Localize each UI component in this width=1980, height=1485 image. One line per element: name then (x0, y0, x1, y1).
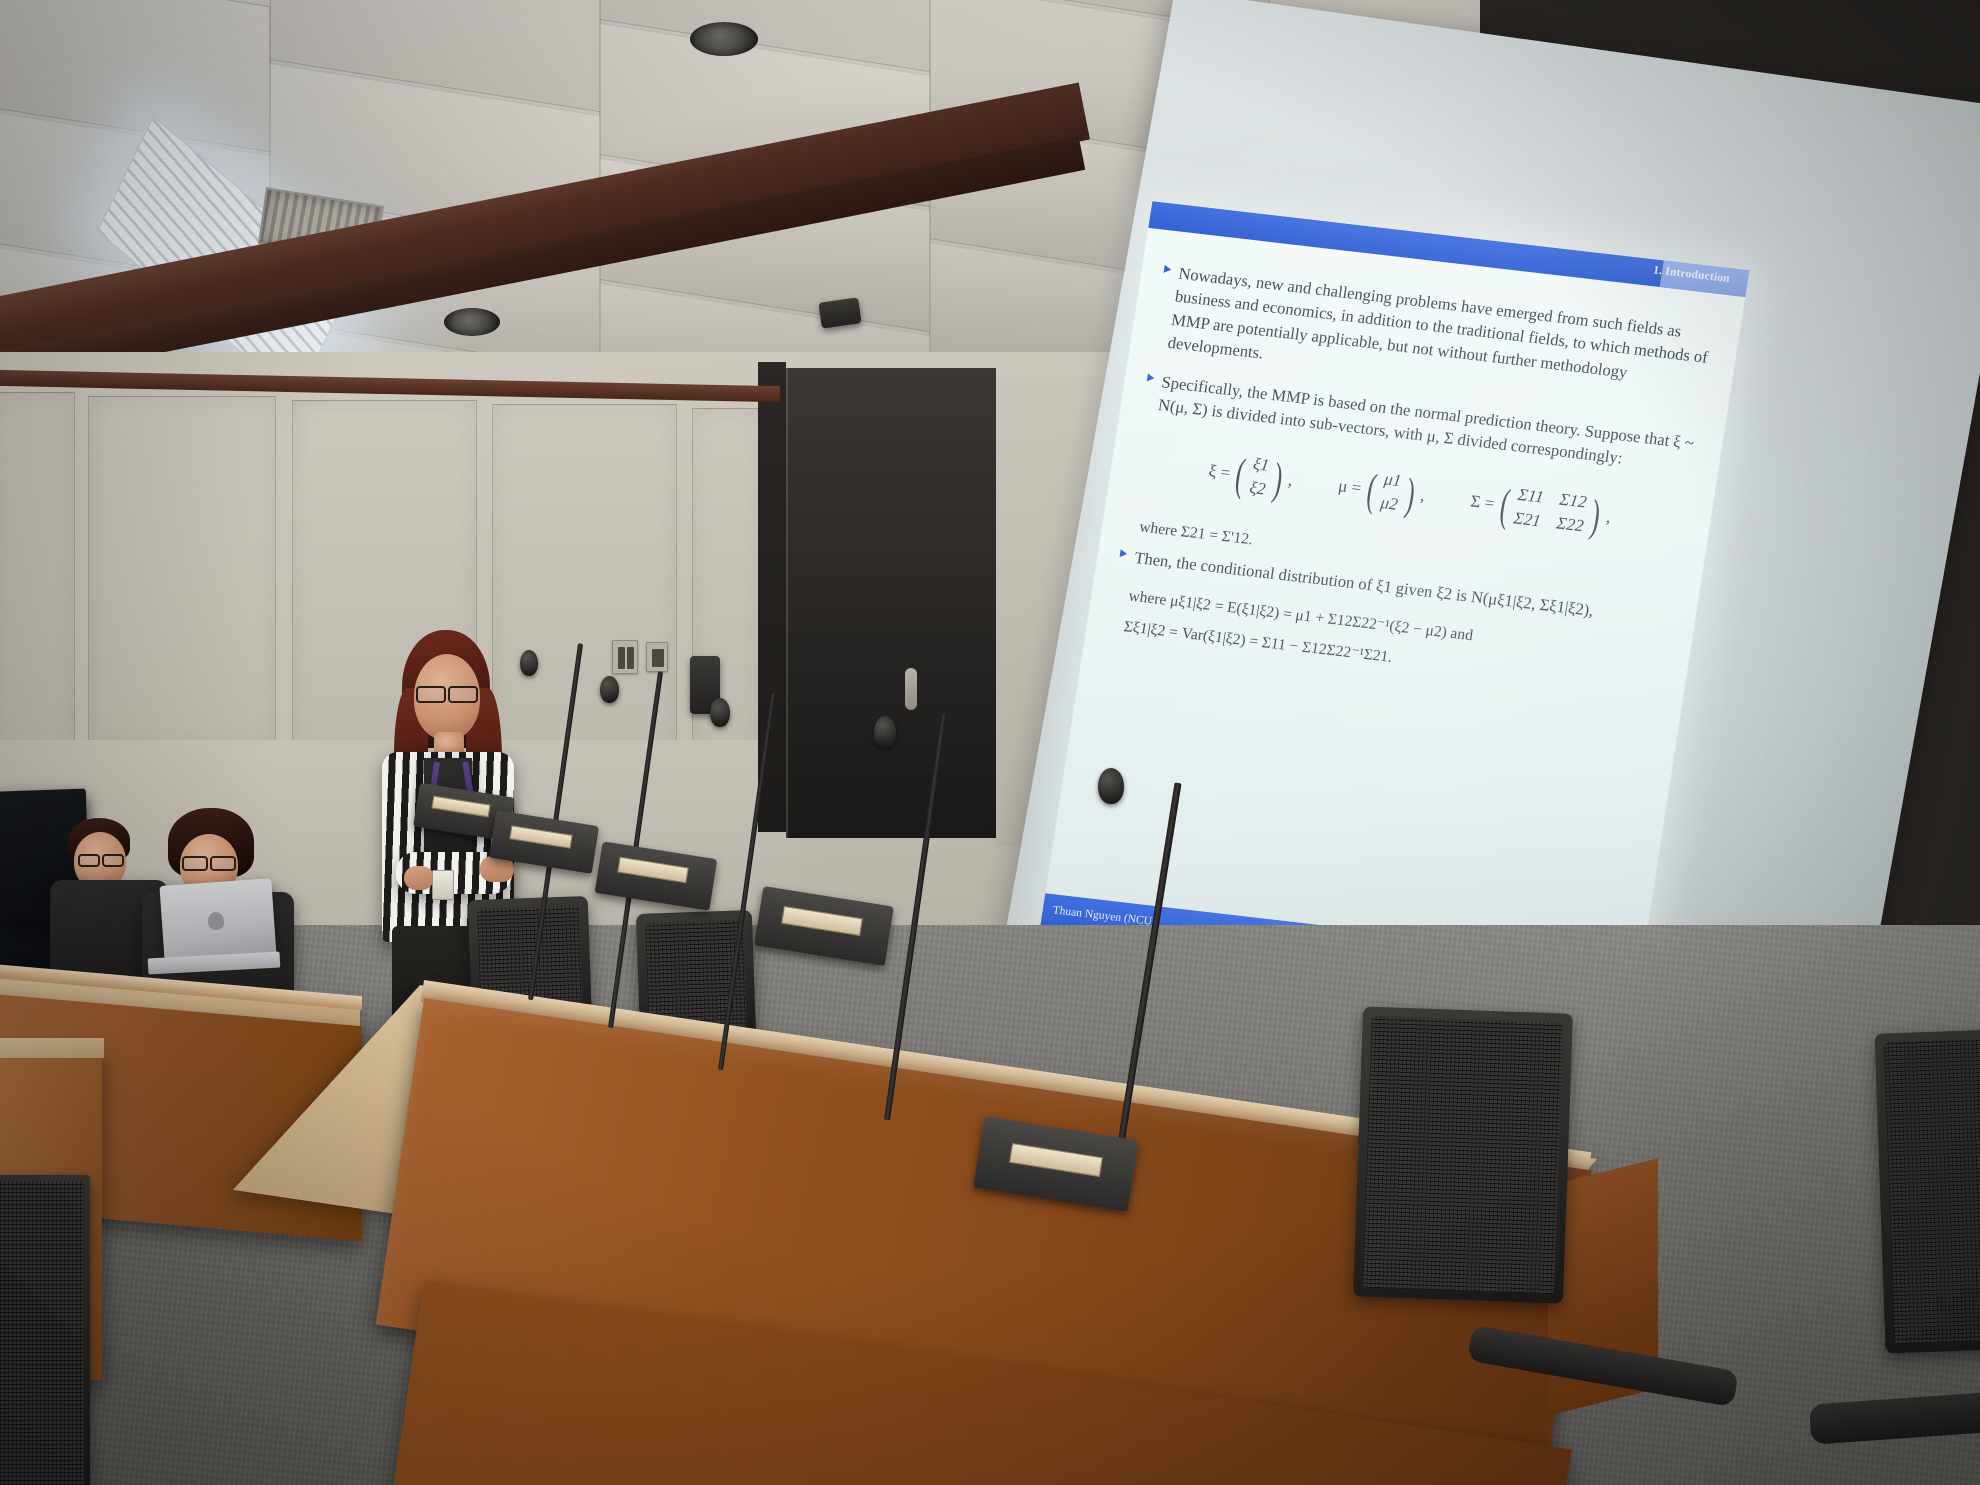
chair-back[interactable] (1874, 1026, 1980, 1353)
wall-switch-plate[interactable] (612, 640, 638, 674)
mu-cell-2: μ2 (1379, 493, 1399, 515)
left-cabinet-top (0, 1038, 104, 1058)
wall-speaker (818, 297, 861, 328)
sigma-cells: Σ11 Σ12 Σ21 Σ22 (1512, 484, 1589, 536)
sigma-cell-12: Σ12 (1558, 489, 1588, 512)
wall-outlet[interactable] (646, 642, 668, 672)
microphone-head (520, 650, 538, 676)
eyeglasses (416, 686, 446, 703)
mu-vector: μ = ( μ1 μ2 ) , (1335, 464, 1428, 517)
name-badge (432, 870, 454, 900)
presenter-hand (404, 866, 434, 890)
ceiling-downlight (690, 22, 758, 56)
paren-right-icon: ) (1403, 477, 1416, 511)
paren-right-icon: ) (1271, 462, 1284, 496)
chair-back[interactable] (0, 1175, 90, 1485)
xi-cells: ξ1 ξ2 (1248, 454, 1270, 499)
bullet-triangle-icon (1120, 549, 1128, 558)
mu-label: μ = (1337, 476, 1363, 498)
mu-cell-1: μ1 (1383, 469, 1403, 491)
paren-left-icon: ( (1234, 457, 1247, 491)
slide-body: Nowadays, new and challenging problems h… (1045, 228, 1745, 963)
apple-logo-icon (207, 912, 224, 931)
eyeglasses (448, 686, 478, 703)
paren-left-icon: ( (1498, 488, 1511, 522)
paren-right-icon: ) (1589, 499, 1602, 533)
comma: , (1287, 470, 1294, 490)
comma: , (1419, 485, 1426, 505)
sigma-matrix: Σ = ( Σ11 Σ12 Σ21 Σ22 ) (1467, 479, 1614, 539)
paren-left-icon: ( (1365, 473, 1378, 507)
microphone-head (1098, 768, 1124, 804)
microphone-head (600, 676, 619, 703)
xi-label: ξ = (1207, 461, 1231, 483)
xi-vector: ξ = ( ξ1 ξ2 ) , (1206, 449, 1296, 502)
xi-cell-2: ξ2 (1248, 477, 1267, 499)
trailing-comma: , (1605, 507, 1612, 527)
wall-panel (0, 392, 75, 752)
door (786, 368, 996, 838)
laptop-lid (159, 878, 276, 964)
sigma-cell-22: Σ22 (1555, 513, 1585, 536)
xi-cell-1: ξ1 (1252, 454, 1271, 476)
sigma-cell-11: Σ11 (1516, 484, 1545, 507)
ceiling-downlight (444, 308, 500, 336)
wall-panel (88, 396, 276, 748)
photo-scene: 1. Introduction Nowadays, new and challe… (0, 0, 1980, 1485)
microphone-head (710, 698, 730, 727)
sigma-label: Σ = (1469, 491, 1496, 513)
door-handle[interactable] (905, 668, 917, 710)
sigma-cell-21: Σ21 (1512, 508, 1542, 531)
wall-panel (492, 404, 677, 756)
microphone-head (874, 716, 896, 748)
bullet-triangle-icon (1147, 373, 1155, 382)
presentation-slide: 1. Introduction Nowadays, new and challe… (1040, 201, 1749, 996)
chair-back[interactable] (1353, 1006, 1573, 1303)
mu-cells: μ1 μ2 (1379, 469, 1403, 514)
bullet-triangle-icon (1164, 265, 1172, 274)
